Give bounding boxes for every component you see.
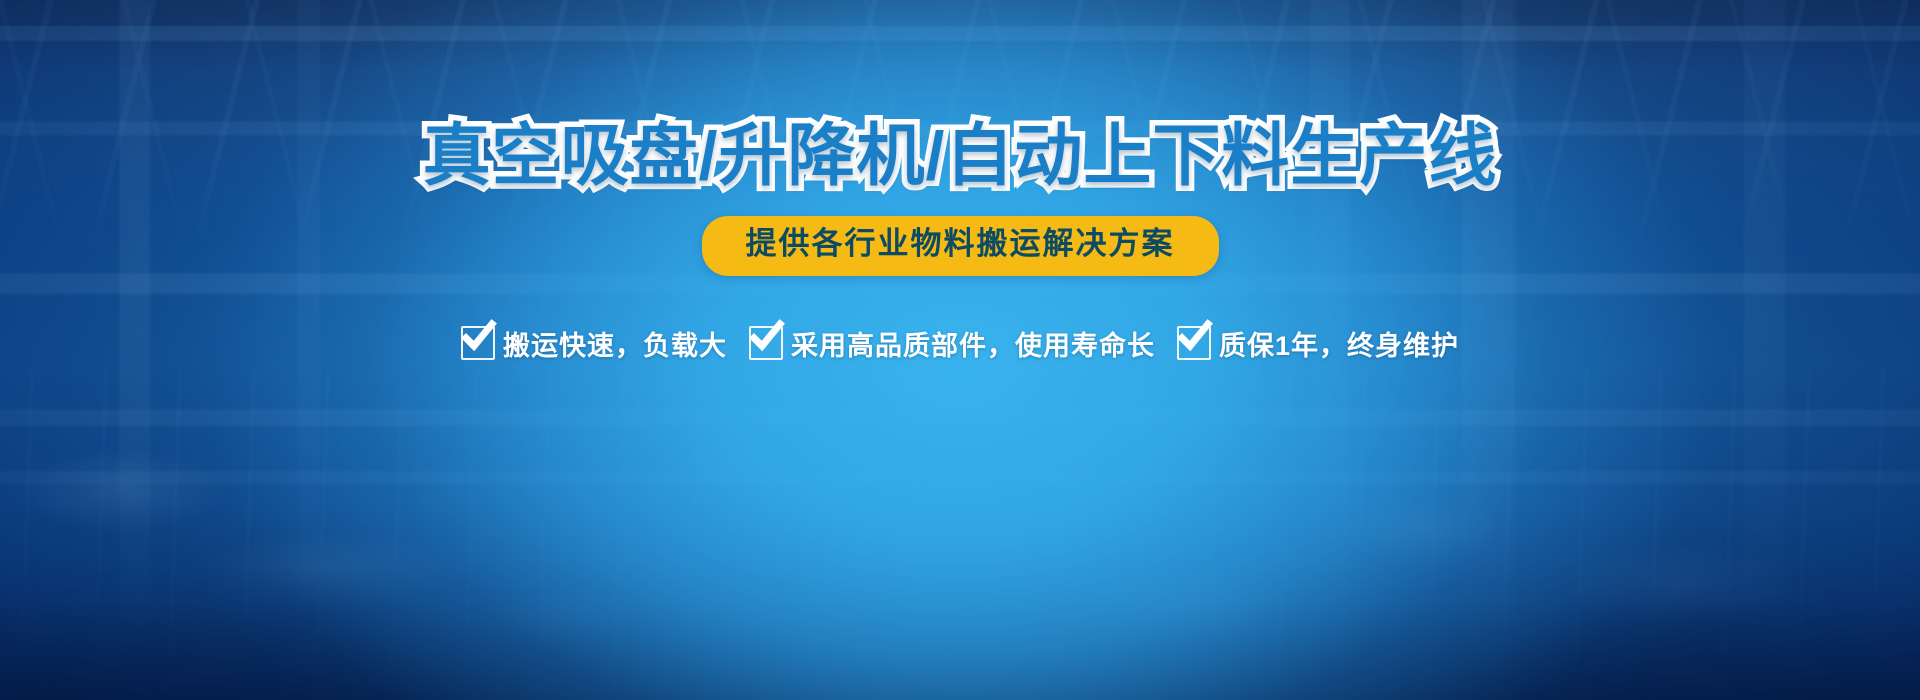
checkbox-checked-icon xyxy=(749,326,783,360)
checkbox-checked-icon xyxy=(1177,326,1211,360)
feature-list: 搬运快速，负载大 采用高品质部件，使用寿命长 质保1年，终身维护 xyxy=(461,324,1459,363)
feature-item: 采用高品质部件，使用寿命长 xyxy=(749,324,1155,363)
feature-item: 质保1年，终身维护 xyxy=(1177,324,1459,363)
hero-banner: 真空吸盘/升降机/自动上下料生产线 提供各行业物料搬运解决方案 搬运快速，负载大… xyxy=(0,0,1920,700)
feature-label: 搬运快速，负载大 xyxy=(503,324,727,363)
checkbox-checked-icon xyxy=(461,326,495,360)
banner-content: 真空吸盘/升降机/自动上下料生产线 提供各行业物料搬运解决方案 搬运快速，负载大… xyxy=(0,0,1920,700)
feature-label: 质保1年，终身维护 xyxy=(1219,324,1459,363)
feature-label: 采用高品质部件，使用寿命长 xyxy=(791,324,1155,363)
page-title: 真空吸盘/升降机/自动上下料生产线 xyxy=(423,122,1498,190)
subtitle-pill: 提供各行业物料搬运解决方案 xyxy=(702,216,1219,276)
feature-item: 搬运快速，负载大 xyxy=(461,324,727,363)
